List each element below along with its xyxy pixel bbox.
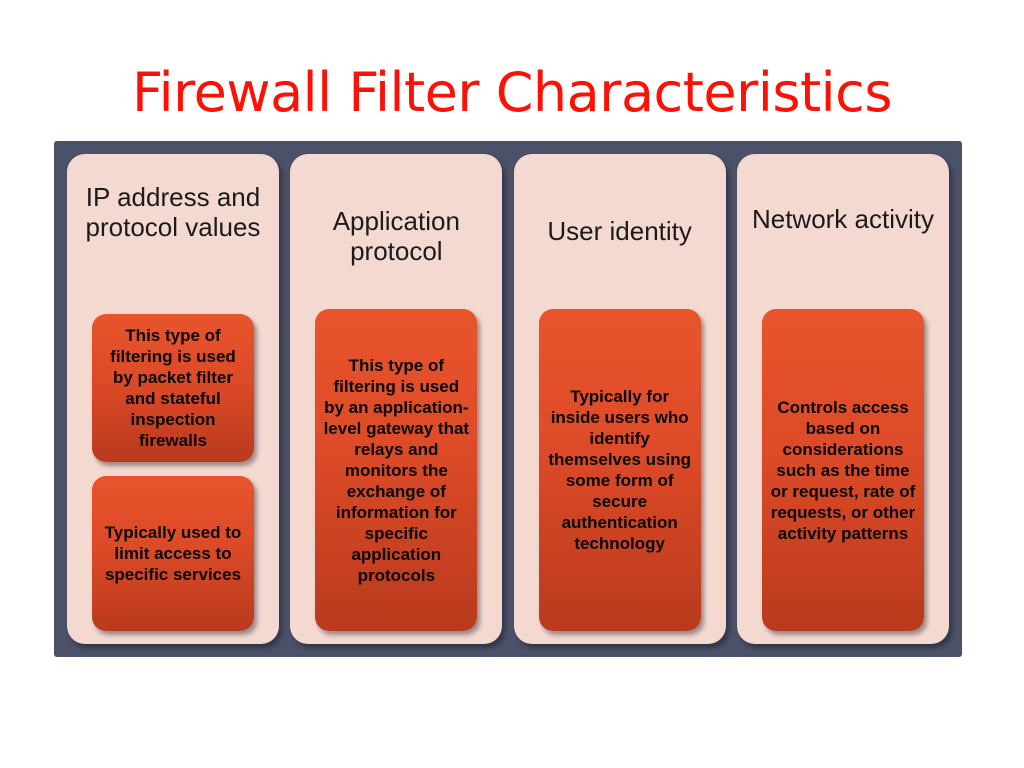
detail-box[interactable]: Controls access based on considerations … bbox=[762, 309, 924, 631]
column-heading: IP address and protocol values bbox=[80, 182, 266, 242]
diagram-frame: IP address and protocol values This type… bbox=[54, 141, 962, 657]
slide-canvas: Firewall Filter Characteristics IP addre… bbox=[0, 0, 1024, 768]
column-card-application-protocol[interactable]: Application protocol This type of filter… bbox=[290, 154, 502, 644]
column-card-ip-address-and-protocol-values[interactable]: IP address and protocol values This type… bbox=[67, 154, 279, 644]
detail-box[interactable]: This type of filtering is used by packet… bbox=[92, 314, 254, 462]
detail-text-after: inspection firewalls bbox=[130, 410, 215, 450]
column-card-user-identity[interactable]: User identity Typically for inside users… bbox=[514, 154, 726, 644]
detail-box-text: This type of filtering is used by packet… bbox=[98, 325, 248, 451]
column-heading: User identity bbox=[527, 216, 713, 246]
detail-box[interactable]: Typically used to limit access to specif… bbox=[92, 476, 254, 631]
diagram-columns: IP address and protocol values This type… bbox=[67, 154, 949, 644]
detail-box-text: Typically for inside users who identify … bbox=[545, 386, 695, 554]
detail-box-text: This type of filtering is used by an app… bbox=[321, 355, 471, 586]
detail-box[interactable]: Typically for inside users who identify … bbox=[539, 309, 701, 631]
page-title: Firewall Filter Characteristics bbox=[0, 62, 1024, 124]
column-heading: Application protocol bbox=[303, 206, 489, 266]
misspelled-word: stateful bbox=[160, 388, 220, 409]
column-card-network-activity[interactable]: Network activity Controls access based o… bbox=[737, 154, 949, 644]
detail-box[interactable]: This type of filtering is used by an app… bbox=[315, 309, 477, 631]
detail-box-text: Controls access based on considerations … bbox=[768, 397, 918, 544]
column-heading: Network activity bbox=[750, 204, 936, 234]
detail-box-text: Typically used to limit access to specif… bbox=[98, 522, 248, 585]
